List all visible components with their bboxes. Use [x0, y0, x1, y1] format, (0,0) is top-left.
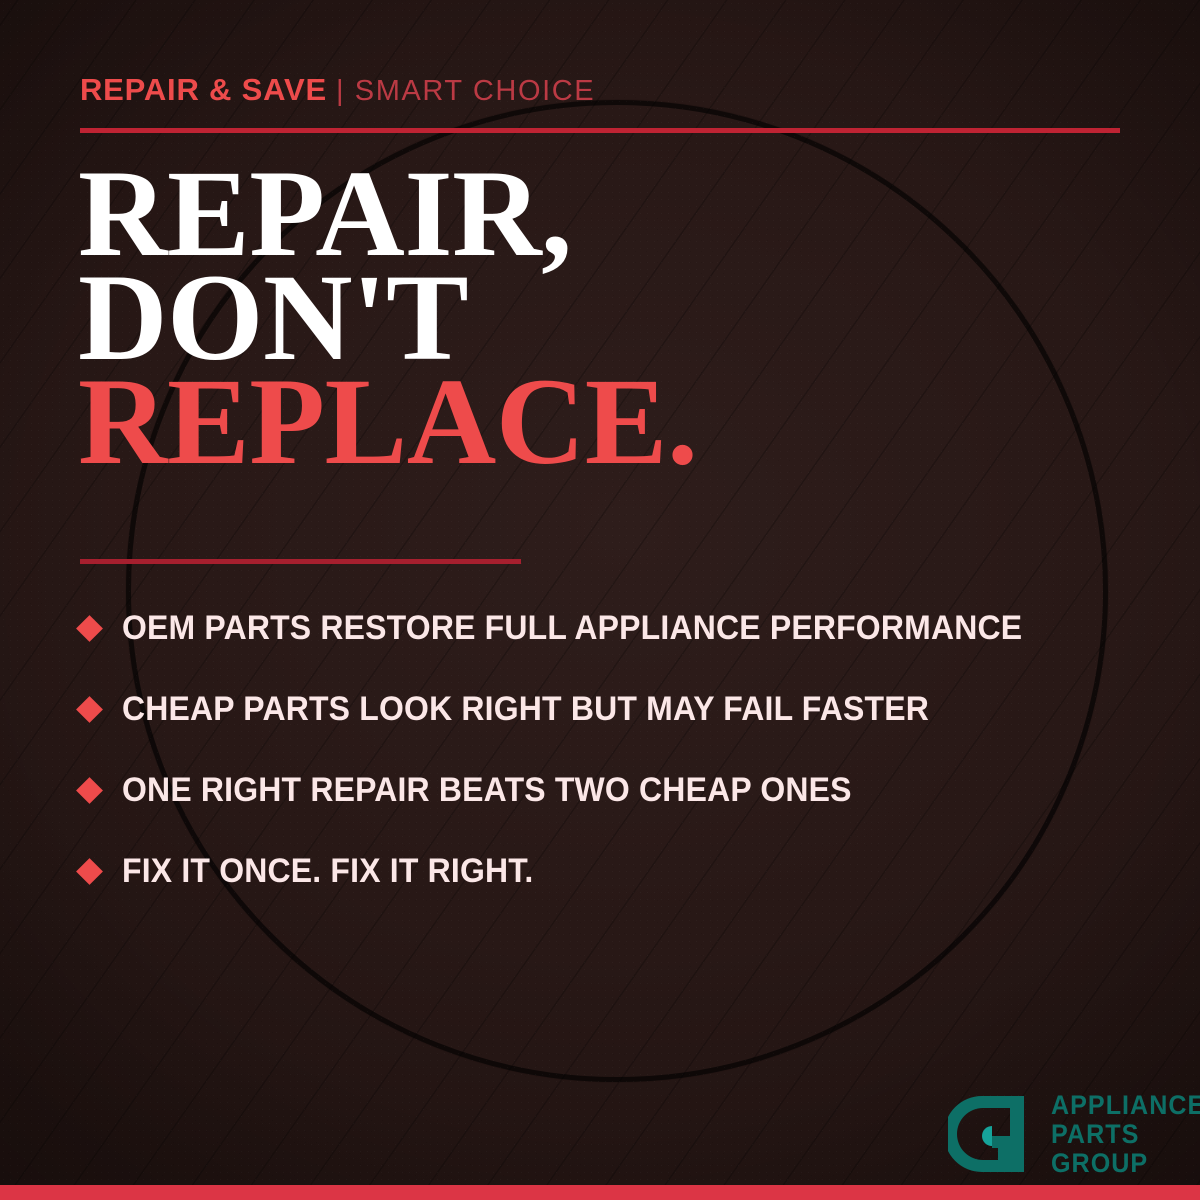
- kicker-sub-label: | SMART CHOICE: [336, 75, 595, 107]
- benefit-list: OEM PARTS RESTORE FULL APPLIANCE PERFORM…: [80, 588, 1160, 912]
- appliance-parts-group-g-mark: [948, 1090, 1040, 1178]
- list-item: CHEAP PARTS LOOK RIGHT BUT MAY FAIL FAST…: [80, 669, 1160, 750]
- headline-line-3: REPLACE.: [78, 370, 698, 474]
- list-item-label: ONE RIGHT REPAIR BEATS TWO CHEAP ONES: [122, 771, 852, 810]
- diamond-bullet-icon: [76, 615, 103, 642]
- list-item-label: FIX IT ONCE. FIX IT RIGHT.: [122, 852, 534, 891]
- brand-logo-line-1: APPLIANCE: [1051, 1091, 1200, 1120]
- brand-logo-line-2: PARTS: [1051, 1120, 1200, 1149]
- bottom-accent-bar: [0, 1185, 1200, 1200]
- list-item-label: OEM PARTS RESTORE FULL APPLIANCE PERFORM…: [122, 609, 1022, 648]
- kicker: REPAIR & SAVE| SMART CHOICE: [80, 74, 595, 106]
- diamond-bullet-icon: [76, 858, 103, 885]
- header-divider-rule: [80, 128, 1120, 133]
- brand-logo: APPLIANCE PARTS GROUP: [948, 1090, 1200, 1178]
- brand-logo-line-3: GROUP: [1051, 1149, 1200, 1178]
- list-item: ONE RIGHT REPAIR BEATS TWO CHEAP ONES: [80, 750, 1160, 831]
- headline-divider-rule: [80, 559, 521, 564]
- list-item: OEM PARTS RESTORE FULL APPLIANCE PERFORM…: [80, 588, 1160, 669]
- kicker-main-label: REPAIR & SAVE: [80, 72, 327, 107]
- list-item: FIX IT ONCE. FIX IT RIGHT.: [80, 831, 1160, 912]
- diamond-bullet-icon: [76, 696, 103, 723]
- list-item-label: CHEAP PARTS LOOK RIGHT BUT MAY FAIL FAST…: [122, 690, 929, 729]
- diamond-bullet-icon: [76, 777, 103, 804]
- brand-logo-wordmark: APPLIANCE PARTS GROUP: [1051, 1091, 1200, 1178]
- promo-poster: REPAIR & SAVE| SMART CHOICE REPAIR, DON'…: [0, 0, 1200, 1200]
- page-title: REPAIR, DON'T REPLACE.: [78, 162, 698, 474]
